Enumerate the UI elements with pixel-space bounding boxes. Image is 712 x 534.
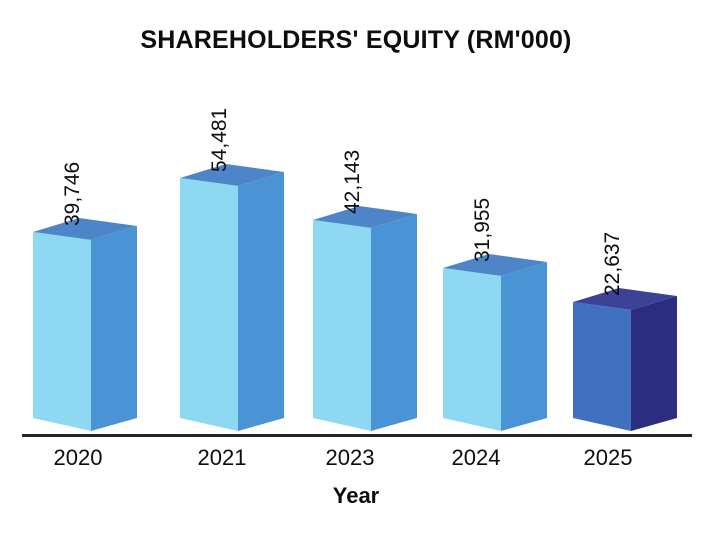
x-tick-label-4: 2025 <box>548 445 668 471</box>
bar-value-label-1: 54,481 <box>208 108 232 172</box>
bar-value-label-4: 22,637 <box>601 232 625 296</box>
bar-group-0: 39,746 <box>33 218 137 446</box>
bar-3d-1[interactable] <box>180 164 284 446</box>
bar-value-label-2: 42,143 <box>341 150 365 214</box>
x-tick-label-1: 2021 <box>162 445 282 471</box>
x-tick-label-3: 2024 <box>416 445 536 471</box>
bar-group-3: 31,955 <box>443 254 547 446</box>
chart-container: SHAREHOLDERS' EQUITY (RM'000) 39,746 54,… <box>0 0 712 534</box>
x-axis-title: Year <box>0 483 712 509</box>
bar-3d-3[interactable] <box>443 254 547 446</box>
x-tick-label-0: 2020 <box>18 445 138 471</box>
plot-area: 39,746 54,481 42,143 <box>0 0 712 534</box>
bar-value-label-3: 31,955 <box>471 198 495 262</box>
bar-3d-2[interactable] <box>313 206 417 446</box>
bar-value-label-0: 39,746 <box>61 162 85 226</box>
x-tick-label-2: 2023 <box>290 445 410 471</box>
bar-3d-0[interactable] <box>33 218 137 446</box>
bar-group-2: 42,143 <box>313 206 417 446</box>
bar-group-4: 22,637 <box>573 288 677 446</box>
bar-3d-4[interactable] <box>573 288 677 446</box>
bar-group-1: 54,481 <box>180 164 284 446</box>
